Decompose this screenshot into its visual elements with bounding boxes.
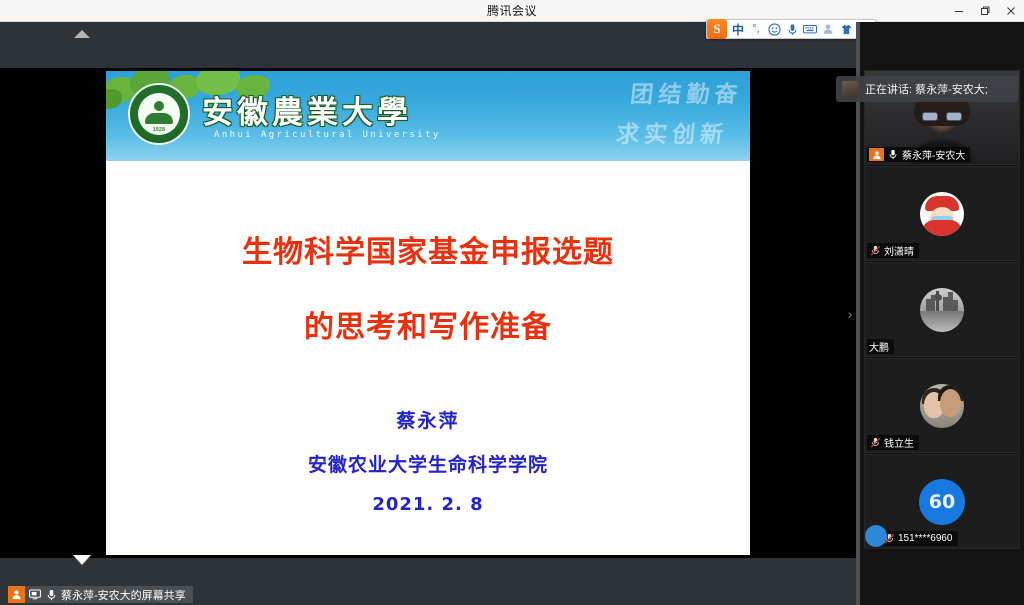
rail-scroll-up-button[interactable] <box>0 22 164 46</box>
rail-scroll-down-button[interactable] <box>0 548 164 572</box>
participant-avatar-number: 60 <box>919 479 965 525</box>
slide-date: 2021. 2. 8 <box>106 494 750 515</box>
participant-avatar-thumb <box>865 525 887 547</box>
participant-name: 刘潇晴 <box>884 243 914 258</box>
slide-author-block: 蔡永萍 安徽农业大学生命科学学院 2021. 2. 8 <box>106 406 750 515</box>
slide-title-line-1: 生物科学国家基金申报选题 <box>106 215 750 290</box>
screen-share-label: 蔡永萍-安农大的屏幕共享 <box>61 587 186 603</box>
slide-banner: 1928 安徽農業大學 Anhui Agricultural Universit… <box>106 71 750 161</box>
participant-namebar: 151****6960 <box>881 531 958 546</box>
participant-tile-2[interactable]: 刘潇晴 <box>864 166 1020 261</box>
minimize-button[interactable] <box>946 0 972 22</box>
university-name-cn: 安徽農業大學 <box>202 87 412 132</box>
user-icon[interactable] <box>819 20 837 38</box>
mic-muted-icon <box>869 245 881 257</box>
participant-namebar: 钱立生 <box>867 435 919 450</box>
screen-share-icon <box>29 589 41 601</box>
host-badge-icon <box>869 148 884 161</box>
mic-on-icon <box>45 589 57 601</box>
speaking-notification: 正在讲话: 蔡永萍-安农大; <box>836 76 1018 102</box>
window-title: 腾讯会议 <box>487 2 537 19</box>
participant-namebar: 大鹏 <box>867 339 894 354</box>
host-badge-icon <box>8 586 25 603</box>
speaking-label: 正在讲话: 蔡永萍-安农大; <box>865 81 988 97</box>
participant-namebar: 蔡永萍-安农大 <box>867 147 970 162</box>
participant-tile-5[interactable]: 60 151****6960 <box>864 454 1020 549</box>
university-name-en: Anhui Agricultural University <box>214 130 441 140</box>
slide-title: 生物科学国家基金申报选题 的思考和写作准备 <box>106 215 750 365</box>
glasses-icon <box>922 112 962 121</box>
university-logo-icon: 1928 <box>128 83 190 145</box>
voice-input-icon[interactable] <box>783 20 801 38</box>
screen-share-indicator: 蔡永萍-安农大的屏幕共享 <box>8 586 193 603</box>
sogou-logo-icon[interactable]: S <box>707 19 727 39</box>
logo-year: 1928 <box>153 127 165 133</box>
scroll-up-arrow-icon <box>74 30 90 38</box>
slide-body: 生物科学国家基金申报选题 的思考和写作准备 蔡永萍 安徽农业大学生命科学学院 2… <box>106 161 750 555</box>
shared-screen-slide[interactable]: 1928 安徽農業大學 Anhui Agricultural Universit… <box>106 71 750 555</box>
participant-name: 151****6960 <box>898 533 953 544</box>
university-motto: 团结勤奋 求实创新 <box>530 75 749 159</box>
window-controls <box>946 0 1024 22</box>
participant-name: 钱立生 <box>884 435 914 450</box>
motto-line-1: 团结勤奋 <box>629 81 744 108</box>
participant-name: 大鹏 <box>869 339 889 354</box>
participant-avatar <box>920 288 964 332</box>
tencent-meeting-window: 腾讯会议 S 中 °, <box>0 0 1024 605</box>
slide-presenter-name: 蔡永萍 <box>106 406 750 433</box>
chinese-mode-icon[interactable]: 中 <box>729 20 747 38</box>
sogou-ime-toolbar[interactable]: S 中 °, <box>706 19 876 39</box>
motto-line-2: 求实创新 <box>530 115 740 155</box>
slide-title-line-2: 的思考和写作准备 <box>106 290 750 365</box>
participant-avatar <box>920 384 964 428</box>
skin-icon[interactable] <box>837 20 855 38</box>
mic-muted-icon <box>869 437 881 449</box>
participant-namebar: 刘潇晴 <box>867 243 919 258</box>
restore-button[interactable] <box>972 0 998 22</box>
collapse-rail-chevron-icon[interactable]: › <box>842 302 858 326</box>
scroll-down-arrow-icon <box>73 555 91 565</box>
punctuation-mode-icon[interactable]: °, <box>747 20 765 38</box>
slide-affiliation: 安徽农业大学生命科学学院 <box>106 450 750 477</box>
participant-avatar <box>920 192 964 236</box>
soft-keyboard-icon[interactable] <box>801 20 819 38</box>
participant-tile-3[interactable]: 大鹏 <box>864 262 1020 357</box>
participant-tiles: 蔡永萍-安农大 刘潇晴 <box>864 70 1020 550</box>
participant-name: 蔡永萍-安农大 <box>902 147 965 162</box>
speaker-thumbnail <box>842 81 859 98</box>
mic-on-icon <box>887 149 899 161</box>
close-button[interactable] <box>998 0 1024 22</box>
emoji-icon[interactable] <box>765 20 783 38</box>
participant-tile-4[interactable]: 钱立生 <box>864 358 1020 453</box>
